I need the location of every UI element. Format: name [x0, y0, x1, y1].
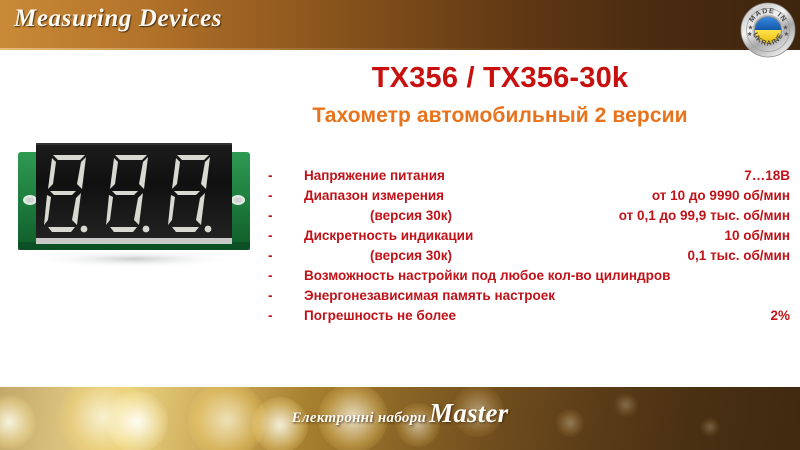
spec-label: Погрешность не более [304, 306, 456, 326]
header-title: Measuring Devices [14, 5, 222, 33]
product-photo [8, 138, 260, 268]
spec-row: - Напряжение питания 7…18В [268, 166, 792, 186]
spec-label: (версия 30к) [304, 206, 518, 226]
footer-brand-name: Master [429, 398, 508, 428]
badge-icon: MADE IN UKRAINE [740, 2, 796, 58]
spec-row: - Возможность настройки под любое кол-во… [268, 266, 792, 286]
spec-bullet: - [268, 246, 280, 266]
spec-label: Энергонезависимая память настроек [304, 286, 555, 306]
spec-value: от 0,1 до 99,9 тыс. об/мин [619, 206, 790, 226]
spec-bullet: - [268, 286, 280, 306]
spec-value: 0,1 тыс. об/мин [688, 246, 790, 266]
spec-label: Диапазон измерения [304, 186, 444, 206]
spec-value: 2% [770, 306, 790, 326]
slide: Measuring Devices [0, 0, 800, 450]
spec-row: - Погрешность не более 2% [268, 306, 792, 326]
spec-value: 7…18В [744, 166, 790, 186]
made-in-ukraine-badge: MADE IN UKRAINE [740, 2, 796, 58]
page-title: ТХ356 / ТХ356-30k [200, 62, 800, 95]
spec-row: - Дискретность индикации 10 об/мин [268, 226, 792, 246]
spec-label: Возможность настройки под любое кол-во ц… [304, 266, 670, 286]
spec-value: от 10 до 9990 об/мин [652, 186, 790, 206]
footer-brand: Електронні набориMaster [0, 398, 800, 429]
spec-value: 10 об/мин [724, 226, 790, 246]
specifications-list: - Напряжение питания 7…18В - Диапазон из… [268, 166, 792, 326]
spec-bullet: - [268, 306, 280, 326]
spec-bullet: - [268, 226, 280, 246]
spec-bullet: - [268, 206, 280, 226]
spec-row: - (версия 30к) от 0,1 до 99,9 тыс. об/ми… [268, 206, 792, 226]
spec-bullet: - [268, 266, 280, 286]
spec-label: Напряжение питания [304, 166, 445, 186]
header-band: Measuring Devices [0, 0, 800, 50]
spec-bullet: - [268, 186, 280, 206]
spec-bullet: - [268, 166, 280, 186]
page-subtitle: Тахометр автомобильный 2 версии [200, 104, 800, 128]
spec-row: - Энергонезависимая память настроек [268, 286, 792, 306]
spec-row: - (версия 30к) 0,1 тыс. об/мин [268, 246, 792, 266]
spec-row: - Диапазон измерения от 10 до 9990 об/ми… [268, 186, 792, 206]
spec-label: Дискретность индикации [304, 226, 473, 246]
footer-tagline: Електронні набори [292, 410, 427, 426]
tachometer-module-image [8, 138, 260, 268]
spec-label: (версия 30к) [304, 246, 518, 266]
